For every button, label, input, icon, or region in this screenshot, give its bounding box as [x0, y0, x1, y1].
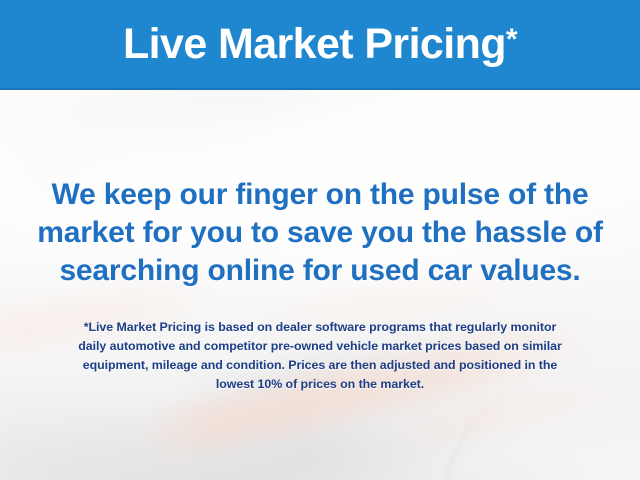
headline: We keep our finger on the pulse of the m…	[0, 176, 640, 290]
page-title-asterisk: *	[506, 23, 517, 56]
disclaimer-line: *Live Market Pricing is based on dealer …	[0, 318, 640, 337]
disclaimer-line: equipment, mileage and condition. Prices…	[0, 356, 640, 375]
disclaimer-text: *Live Market Pricing is based on dealer …	[0, 318, 640, 394]
disclaimer-line: lowest 10% of prices on the market.	[0, 375, 640, 394]
header-banner: Live Market Pricing*	[0, 0, 640, 90]
content-area: We keep our finger on the pulse of the m…	[0, 90, 640, 480]
headline-line: market for you to save you the hassle of	[0, 214, 640, 252]
headline-line: searching online for used car values.	[0, 252, 640, 290]
live-market-pricing-card: Live Market Pricing* We keep our finger …	[0, 0, 640, 480]
headline-line: We keep our finger on the pulse of the	[0, 176, 640, 214]
disclaimer-line: daily automotive and competitor pre-owne…	[0, 337, 640, 356]
page-title-text: Live Market Pricing	[123, 20, 506, 68]
page-title: Live Market Pricing*	[123, 23, 517, 66]
